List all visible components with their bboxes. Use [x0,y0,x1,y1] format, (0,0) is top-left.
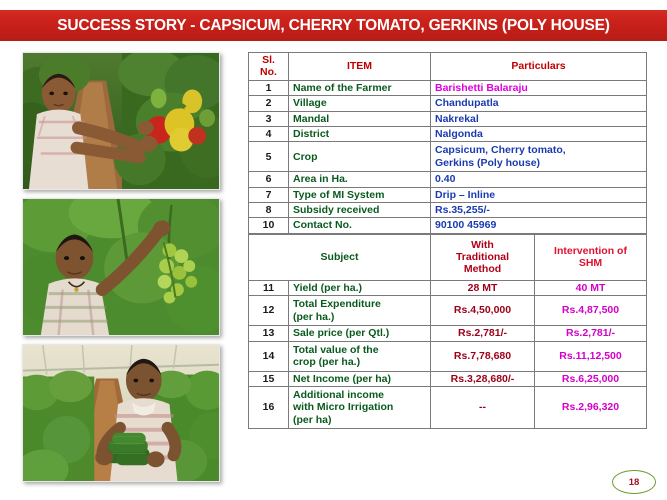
table-row: 7 Type of MI System Drip – Inline [249,187,647,202]
table-row: 3 Mandal Nakrekal [249,111,647,126]
page-number-badge: 18 [612,470,656,494]
row-sl-no: 12 [249,296,289,326]
table-row: 15 Net Income (per ha) Rs.3,28,680/- Rs.… [249,371,647,386]
header-traditional-line1: With [435,239,530,251]
row-sl-no: 15 [249,371,289,386]
table-row: 12 Total Expenditure (per ha.) Rs.4,50,0… [249,296,647,326]
row-sl-no: 6 [249,172,289,187]
header-sl-no-line2: No. [253,66,284,78]
row-subject: Total value of the crop (per ha.) [289,341,431,371]
row-value: Nalgonda [431,126,647,141]
row-subject: Sale price (per Qtl.) [289,326,431,341]
header-intervention-shm: Intervention of SHM [535,234,647,280]
header-sl-no-line1: Sl. [253,54,284,66]
table-row: 14 Total value of the crop (per ha.) Rs.… [249,341,647,371]
row-sl-no: 7 [249,187,289,202]
row-value: 0.40 [431,172,647,187]
row-traditional-value: Rs.2,781/- [431,326,535,341]
row-shm-value: Rs.6,25,000 [535,371,647,386]
row-shm-value: Rs.11,12,500 [535,341,647,371]
row-sl-no: 14 [249,341,289,371]
table-row: 13 Sale price (per Qtl.) Rs.2,781/- Rs.2… [249,326,647,341]
row-shm-value: Rs.2,96,320 [535,386,647,428]
photo-capsicum [22,52,220,190]
row-shm-value: Rs.4,87,500 [535,296,647,326]
row-subject: Total Expenditure (per ha.) [289,296,431,326]
row-sl-no: 4 [249,126,289,141]
row-item: District [289,126,431,141]
row-subject: Net Income (per ha) [289,371,431,386]
row-item: Mandal [289,111,431,126]
header-sl-no: Sl. No. [249,53,289,81]
table-row: 10 Contact No. 90100 45969 [249,218,647,233]
data-table: Sl. No. ITEM Particulars 1 Name of the F… [248,52,647,234]
title-banner: SUCCESS STORY - CAPSICUM, CHERRY TOMATO,… [0,10,667,41]
photo-gherkins-image [23,345,219,481]
table-row: 6 Area in Ha. 0.40 [249,172,647,187]
row-value-line1: Capsicum, Cherry tomato, [435,144,642,156]
page-title: SUCCESS STORY - CAPSICUM, CHERRY TOMATO,… [57,17,610,35]
row-subject: Yield (per ha.) [289,280,431,295]
header-item: ITEM [289,53,431,81]
row-sl-no: 11 [249,280,289,295]
row-subject-line1: Total value of the [293,344,426,356]
row-value: Chandupatla [431,96,647,111]
row-subject-line3: (per ha) [293,414,426,426]
comparison-header-row: Subject With Traditional Method Interven… [249,234,647,280]
row-item: Subsidy received [289,203,431,218]
row-sl-no: 1 [249,80,289,95]
row-value: Drip – Inline [431,187,647,202]
row-item: Area in Ha. [289,172,431,187]
header-traditional-line3: Method [435,263,530,275]
row-traditional-value: Rs.3,28,680/- [431,371,535,386]
row-subject-line2: (per ha.) [293,311,426,323]
row-shm-value: 40 MT [535,280,647,295]
row-item: Name of the Farmer [289,80,431,95]
row-value: 90100 45969 [431,218,647,233]
row-item: Type of MI System [289,187,431,202]
row-sl-no: 16 [249,386,289,428]
header-traditional-line2: Traditional [435,251,530,263]
photo-gallery [22,52,224,490]
row-sl-no: 3 [249,111,289,126]
photo-cherry-tomato-image [23,199,219,335]
row-sl-no: 5 [249,142,289,172]
row-value: Barishetti Balaraju [431,80,647,95]
header-shm-line2: SHM [539,257,642,269]
table-row: 16 Additional income with Micro Irrigati… [249,386,647,428]
row-value: Capsicum, Cherry tomato, Gerkins (Poly h… [431,142,647,172]
row-value: Rs.35,255/- [431,203,647,218]
row-traditional-value: 28 MT [431,280,535,295]
row-sl-no: 8 [249,203,289,218]
row-sl-no: 13 [249,326,289,341]
table-row: 5 Crop Capsicum, Cherry tomato, Gerkins … [249,142,647,172]
row-traditional-value: Rs.7,78,680 [431,341,535,371]
row-traditional-value: -- [431,386,535,428]
photo-gherkins [22,344,220,482]
row-subject: Additional income with Micro Irrigation … [289,386,431,428]
row-item: Village [289,96,431,111]
table-header-row: Sl. No. ITEM Particulars [249,53,647,81]
photo-capsicum-image [23,53,219,189]
row-value-line2: Gerkins (Poly house) [435,157,642,169]
row-traditional-value: Rs.4,50,000 [431,296,535,326]
header-particulars: Particulars [431,53,647,81]
row-item: Crop [289,142,431,172]
header-subject: Subject [249,234,431,280]
table-row: 8 Subsidy received Rs.35,255/- [249,203,647,218]
table-row: 2 Village Chandupatla [249,96,647,111]
page-number: 18 [629,477,640,488]
row-subject-line1: Additional income [293,389,426,401]
row-subject-line1: Total Expenditure [293,298,426,310]
table-row: 4 District Nalgonda [249,126,647,141]
row-value: Nakrekal [431,111,647,126]
row-sl-no: 2 [249,96,289,111]
table-row: 1 Name of the Farmer Barishetti Balaraju [249,80,647,95]
table-row: 11 Yield (per ha.) 28 MT 40 MT [249,280,647,295]
row-subject-line2: crop (per ha.) [293,356,426,368]
row-sl-no: 10 [249,218,289,233]
header-with-traditional-method: With Traditional Method [431,234,535,280]
row-subject-line2: with Micro Irrigation [293,401,426,413]
success-story-table: Sl. No. ITEM Particulars 1 Name of the F… [248,52,646,429]
header-shm-line1: Intervention of [539,245,642,257]
row-shm-value: Rs.2,781/- [535,326,647,341]
row-item: Contact No. [289,218,431,233]
comparison-table: Subject With Traditional Method Interven… [248,234,647,429]
photo-cherry-tomato [22,198,220,336]
